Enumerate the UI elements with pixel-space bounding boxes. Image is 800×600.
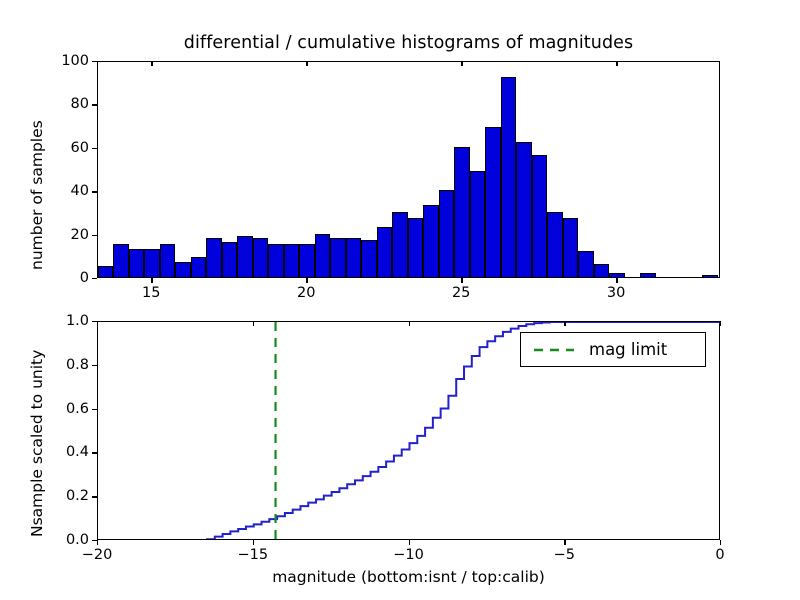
y-tick-label: 40: [27, 183, 89, 199]
histogram-bar: [408, 218, 423, 277]
shared-xlabel: magnitude (bottom:isnt / top:calib): [97, 568, 720, 586]
histogram-bar: [113, 244, 128, 277]
histogram-bar: [222, 242, 237, 277]
histogram-bar: [594, 264, 609, 277]
histogram-bar: [516, 142, 531, 277]
histogram-bar: [268, 244, 283, 277]
x-tick-label: −5: [554, 547, 575, 563]
legend-label-mag-limit: mag limit: [589, 340, 667, 359]
y-tick-mark: [92, 61, 97, 62]
x-tick-label: 15: [142, 285, 160, 301]
figure-canvas: differential / cumulative histograms of …: [0, 0, 800, 600]
histogram-bar: [547, 212, 562, 277]
histogram-bar: [563, 218, 578, 277]
page-title: differential / cumulative histograms of …: [97, 33, 720, 53]
histogram-bar: [206, 238, 221, 277]
y-tick-mark: [92, 409, 97, 410]
y-tick-mark: [92, 191, 97, 192]
y-tick-label: 100: [27, 53, 89, 69]
x-tick-mark: [253, 321, 254, 326]
y-tick-label: 0: [27, 270, 89, 286]
top-plot-area: [98, 62, 719, 277]
x-tick-label: 20: [297, 285, 315, 301]
x-tick-mark: [97, 540, 98, 545]
x-tick-mark: [564, 540, 565, 545]
y-tick-label: 0.8: [27, 357, 89, 373]
histogram-bar: [237, 236, 252, 277]
histogram-bar: [439, 190, 454, 277]
x-tick-mark: [306, 61, 307, 66]
x-tick-mark: [564, 321, 565, 326]
y-tick-mark: [92, 496, 97, 497]
histogram-bar: [98, 266, 113, 277]
x-tick-mark: [616, 61, 617, 66]
y-tick-label: 60: [27, 140, 89, 156]
x-tick-mark: [720, 321, 721, 326]
y-tick-label: 1.0: [27, 313, 89, 329]
histogram-bar: [532, 155, 547, 277]
histogram-bar: [423, 205, 438, 277]
y-tick-label: 20: [27, 227, 89, 243]
histogram-bar: [284, 244, 299, 277]
histogram-bar: [702, 275, 717, 277]
histogram-bar: [144, 249, 159, 277]
x-tick-mark: [461, 61, 462, 66]
x-tick-label: −15: [237, 547, 268, 563]
histogram-bar: [501, 77, 516, 277]
x-tick-mark: [151, 278, 152, 283]
y-tick-mark: [92, 452, 97, 453]
x-tick-mark: [720, 540, 721, 545]
histogram-bar: [454, 147, 469, 277]
histogram-bar: [609, 273, 624, 277]
histogram-bar: [175, 262, 190, 277]
histogram-bar: [392, 212, 407, 277]
y-tick-mark: [92, 148, 97, 149]
x-tick-label: 25: [452, 285, 470, 301]
y-tick-mark: [92, 278, 97, 279]
y-tick-label: 0.0: [27, 532, 89, 548]
x-tick-mark: [409, 540, 410, 545]
histogram-bar: [299, 244, 314, 277]
legend: mag limit: [520, 332, 706, 367]
bottom-axis-ylabel: Nsample scaled to unity: [28, 350, 46, 537]
x-tick-label: −10: [393, 547, 424, 563]
top-histogram-axes: [97, 61, 720, 278]
histogram-bar: [253, 238, 268, 277]
histogram-bar: [485, 127, 500, 277]
histogram-bar: [191, 257, 206, 277]
x-tick-mark: [97, 321, 98, 326]
y-tick-mark: [92, 104, 97, 105]
histogram-bar: [470, 171, 485, 277]
histogram-bar: [330, 238, 345, 277]
x-tick-label: 30: [607, 285, 625, 301]
y-tick-label: 0.4: [27, 444, 89, 460]
x-tick-label: 0: [715, 547, 724, 563]
histogram-bar: [129, 249, 144, 277]
y-tick-label: 0.6: [27, 401, 89, 417]
x-tick-mark: [151, 61, 152, 66]
histogram-bar: [578, 251, 593, 277]
histogram-bar: [315, 234, 330, 277]
x-tick-mark: [409, 321, 410, 326]
y-tick-label: 0.2: [27, 488, 89, 504]
x-tick-mark: [461, 278, 462, 283]
histogram-bar: [640, 273, 655, 277]
x-tick-mark: [306, 278, 307, 283]
histogram-bar: [377, 227, 392, 277]
x-tick-mark: [253, 540, 254, 545]
histogram-bar: [361, 240, 376, 277]
histogram-bar: [160, 244, 175, 277]
legend-dash-icon: [532, 344, 576, 356]
y-tick-label: 80: [27, 96, 89, 112]
y-tick-mark: [92, 235, 97, 236]
y-tick-mark: [92, 365, 97, 366]
x-tick-label: −20: [82, 547, 113, 563]
histogram-bar: [346, 238, 361, 277]
x-tick-mark: [616, 278, 617, 283]
